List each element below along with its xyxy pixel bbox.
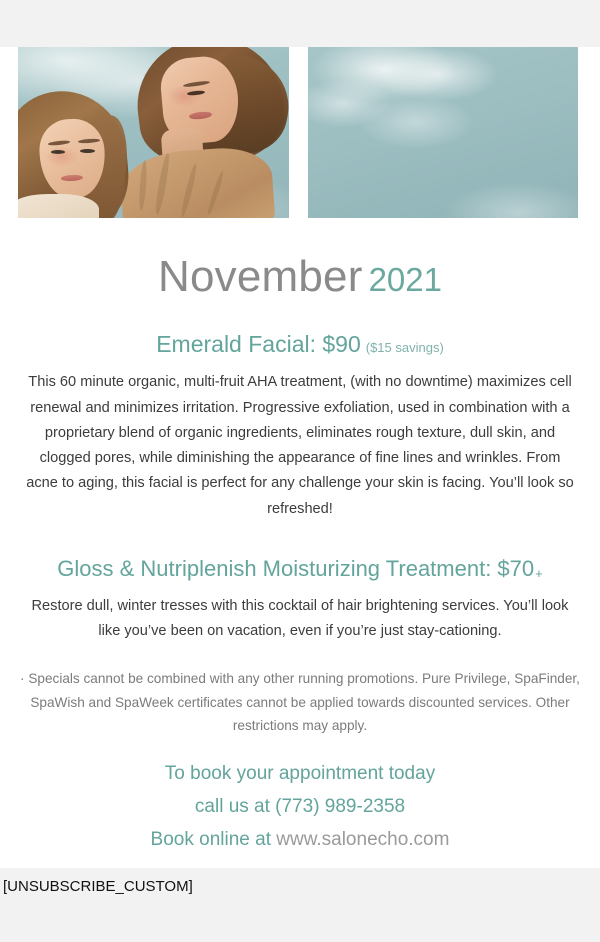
offer-savings-badge: ($15 savings) [366,340,444,355]
top-gutter [0,0,600,47]
offer-description-gloss-nutriplenish: Restore dull, winter tresses with this c… [22,594,578,644]
hero-image-left[interactable] [18,47,289,218]
front-woman-shoulder [18,194,99,218]
footer: [UNSUBSCRIBE_CUSTOM] [0,868,600,896]
two-women-portrait-illustration [18,47,289,218]
email-card: November2021 Emerald Facial: $90($15 sav… [0,47,600,868]
month-label: November [158,252,363,301]
website-url-link[interactable]: www.salonecho.com [276,829,449,850]
unsubscribe-link[interactable]: [UNSUBSCRIBE_CUSTOM] [3,878,600,896]
hero-image-right[interactable] [308,47,578,218]
page-title: November2021 [14,255,586,299]
back-woman-cheek [167,85,202,107]
cta-phone-number[interactable]: call us at (773) 989-2358 [14,791,586,824]
year-label: 2021 [369,261,442,298]
front-woman-eye-left [51,150,66,154]
call-to-action-block: To book your appointment today call us a… [14,758,586,856]
offer-price-plus: + [535,566,543,581]
sky-clouds-background [308,47,578,218]
front-woman-eye-right [80,149,95,153]
offer-title-gloss-nutriplenish: Gloss & Nutriplenish Moisturizing Treatm… [14,556,586,582]
cta-book-online[interactable]: Book online at www.salonecho.com [14,824,586,857]
offer-title-emerald-facial: Emerald Facial: $90($15 savings) [14,331,586,357]
newsletter-content: November2021 Emerald Facial: $90($15 sav… [0,255,600,856]
offer-title-text: Gloss & Nutriplenish Moisturizing Treatm… [57,556,534,581]
hero-images [0,47,600,218]
offer-title-text: Emerald Facial: $90 [156,331,361,357]
cta-book-appointment: To book your appointment today [14,758,586,791]
cta-book-online-prefix: Book online at [151,829,277,850]
offer-description-emerald-facial: This 60 minute organic, multi-fruit AHA … [22,370,578,521]
fineprint-disclaimer: · Specials cannot be combined with any o… [20,667,580,737]
